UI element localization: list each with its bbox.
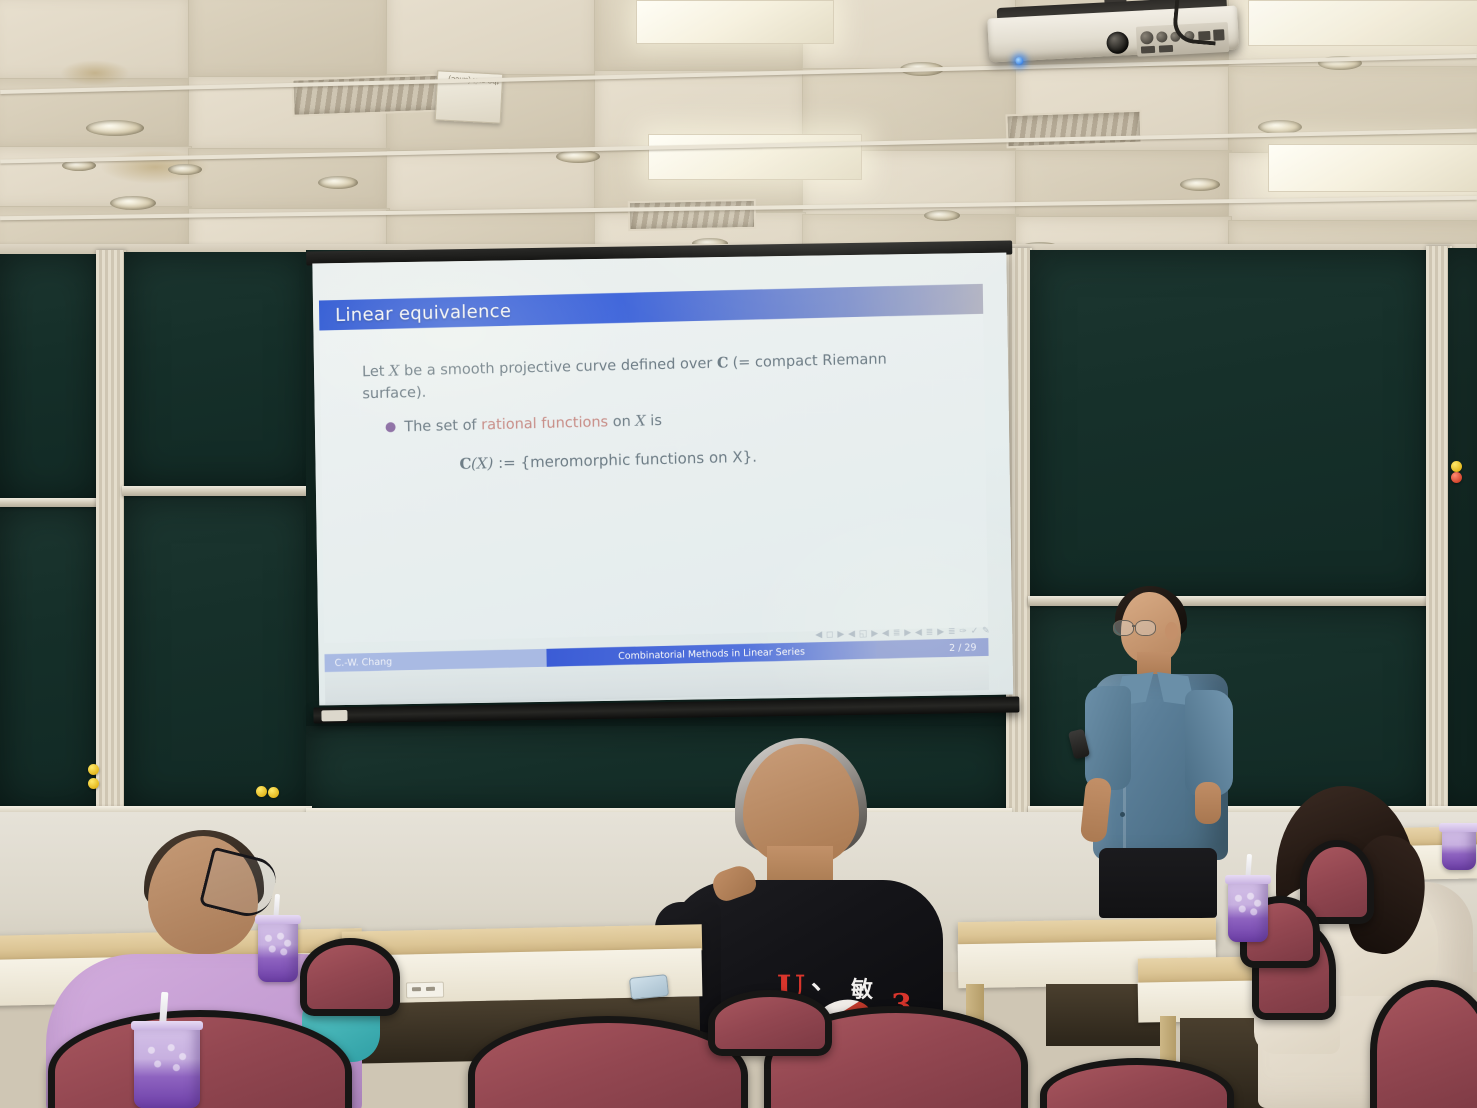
equation-field-symbol: C — [459, 455, 471, 473]
ceiling-stain — [60, 60, 130, 86]
board-magnet — [1451, 461, 1462, 472]
lead-complex-field: C — [717, 354, 728, 371]
equation-argument: (X) — [471, 454, 494, 473]
projector-power-led — [1015, 57, 1023, 65]
bullet-after: is — [646, 412, 662, 428]
smartphone[interactable] — [629, 974, 669, 1000]
downlight — [924, 210, 960, 221]
blackboard-panel — [1448, 248, 1477, 808]
bullet-middle: on — [608, 413, 636, 430]
blackboard-panel — [0, 254, 98, 502]
hvac-vent — [628, 199, 757, 231]
cup-pattern — [141, 1041, 194, 1079]
projector-lens — [1106, 31, 1129, 54]
ceiling-tile — [188, 0, 390, 80]
blackboard-panel — [0, 506, 98, 806]
tshirt-graphic-kanji: 敏 — [851, 972, 873, 1004]
cup-lid — [1439, 823, 1477, 832]
presenter-arm-right — [1195, 782, 1221, 824]
lead-part-1: Let — [362, 364, 389, 381]
board-magnet — [88, 778, 99, 789]
equation-rhs: {meromorphic functions on X}. — [520, 448, 757, 472]
downlight — [110, 196, 156, 210]
bullet-text: The set of rational functions on X is — [404, 410, 662, 438]
board-magnet-red — [1451, 472, 1462, 483]
presenter-ear — [1165, 622, 1178, 640]
projection-screen: Linear equivalence Let X be a smooth pro… — [306, 252, 1019, 733]
glasses-lens-left — [1113, 620, 1134, 636]
ceiling-light-panel — [1248, 0, 1477, 46]
cup-lid — [131, 1021, 203, 1030]
downlight — [86, 120, 144, 136]
projector-port — [1159, 45, 1173, 53]
blackboard-panel — [124, 496, 310, 808]
glasses-bridge — [1132, 625, 1136, 627]
projector-port — [1141, 46, 1155, 54]
cup-body — [258, 920, 298, 982]
equation-assign-symbol: := — [498, 454, 516, 472]
chair[interactable] — [708, 990, 832, 1056]
downlight — [168, 164, 202, 175]
bullet-highlight: rational functions — [481, 414, 608, 433]
blackboard-panel — [1030, 250, 1430, 598]
board-magnet — [256, 786, 267, 797]
cup-body — [134, 1026, 200, 1108]
blackboard-rail — [122, 486, 312, 496]
hvac-vent — [1005, 110, 1142, 149]
cup-pattern — [262, 931, 294, 960]
presenter — [1085, 586, 1250, 916]
cup-lid — [255, 915, 301, 924]
blackboard-panel — [124, 252, 310, 488]
presenter-sleeve-left — [1085, 686, 1131, 790]
drink-cup[interactable] — [1228, 880, 1268, 942]
projector-port — [1156, 31, 1168, 43]
lecture-hall-scene: the exit (ance) — [0, 0, 1477, 1108]
blackboard-rail — [0, 498, 100, 507]
lead-part-2: be a smooth projective curve defined ove… — [399, 356, 717, 380]
desk-power-outlet[interactable] — [406, 982, 444, 999]
drink-cup[interactable] — [134, 1026, 200, 1108]
cup-body — [1228, 880, 1268, 942]
chair[interactable] — [300, 938, 400, 1016]
slide-bullet-item: ● The set of rational functions on X is — [385, 403, 953, 439]
blackboard-divider-post — [96, 250, 126, 814]
drink-cup[interactable] — [258, 920, 298, 982]
glasses-lens-right — [1135, 620, 1156, 636]
board-magnet — [88, 764, 99, 775]
ceiling-light-panel — [636, 0, 834, 44]
tshirt-graphic-mark: 、 — [811, 960, 837, 997]
projected-slide: Linear equivalence Let X be a smooth pro… — [312, 253, 1013, 706]
bullet-dot-icon: ● — [385, 417, 397, 439]
slide-title: Linear equivalence — [319, 300, 511, 326]
presenter-sleeve-right — [1185, 690, 1233, 796]
ceiling: the exit (ance) — [0, 0, 1477, 262]
downlight — [1180, 178, 1220, 191]
presenter-trousers — [1099, 848, 1217, 918]
ceiling-tile — [386, 0, 598, 78]
cup-body — [1442, 828, 1476, 870]
screen-pull-tab[interactable] — [321, 710, 347, 721]
ceiling-light-panel — [1268, 144, 1477, 192]
drink-cup[interactable] — [1442, 828, 1476, 870]
downlight — [556, 150, 600, 163]
presenter-glasses — [1113, 620, 1157, 635]
bullet-before: The set of — [404, 417, 481, 435]
screen-surface: Linear equivalence Let X be a smooth pro… — [312, 253, 1013, 706]
ceiling-light-panel — [648, 134, 862, 180]
projector-port — [1140, 31, 1154, 45]
shirt-button — [1120, 812, 1125, 817]
lead-variable-x: X — [389, 363, 400, 379]
board-magnet — [268, 787, 279, 798]
bullet-variable-x: X — [635, 413, 646, 429]
slide-body: Let X be a smooth projective curve defin… — [362, 347, 954, 478]
ceiling-tile — [1228, 66, 1477, 156]
downlight — [318, 176, 358, 189]
cup-pattern — [1232, 891, 1264, 920]
cup-lid — [1225, 875, 1271, 884]
